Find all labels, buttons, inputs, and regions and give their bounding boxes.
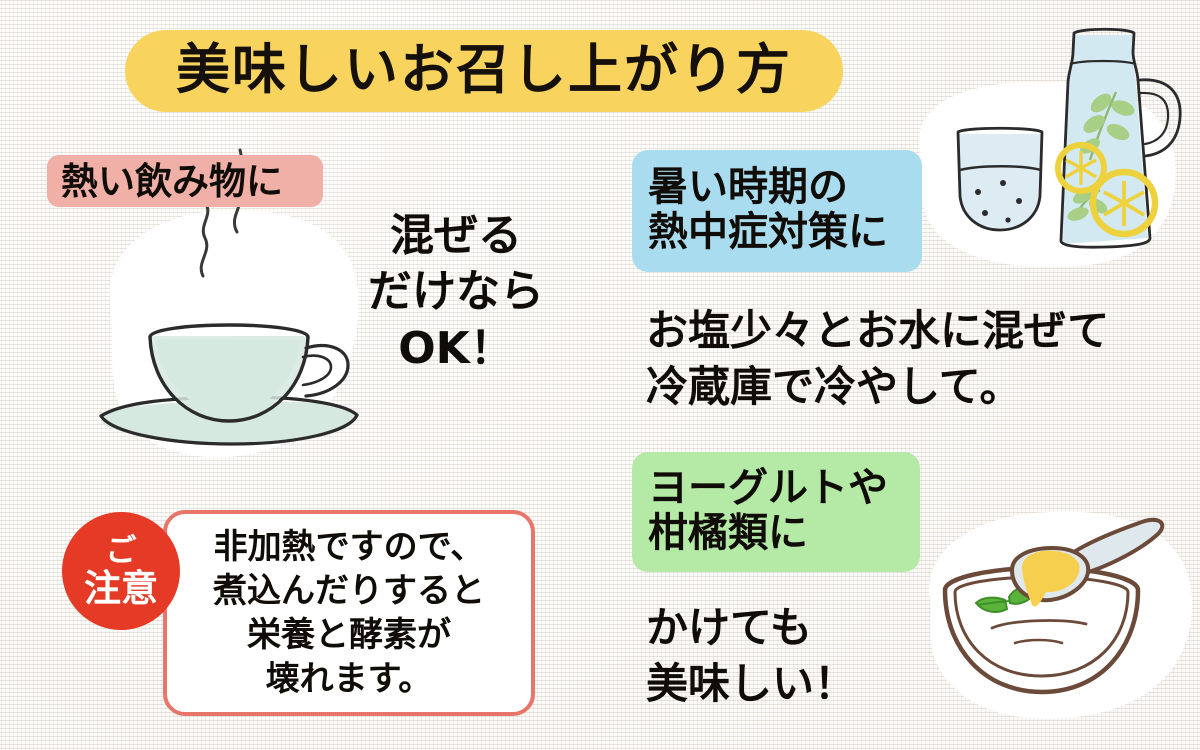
- label-yogurt-line-2: 柑橘類に: [648, 511, 904, 556]
- label-hot-drink: 熱い飲み物に: [47, 155, 323, 207]
- caution-box: 非加熱ですので、 煮込んだりすると 栄養と酵素が 壊れます。: [163, 510, 535, 716]
- caution-badge-line-1: ご: [106, 536, 137, 567]
- text-yogurt-body: かけても 美味しい！: [646, 600, 856, 712]
- text-mix-line-2: だけなら: [348, 264, 564, 320]
- yogurt-bowl-illustration: [929, 512, 1192, 719]
- caution-line-3: 栄養と酵素が: [247, 613, 451, 657]
- title-banner: 美味しいお召し上がり方: [125, 30, 843, 112]
- text-mix-only: 混ぜる だけなら OK！: [348, 208, 564, 377]
- label-hot-drink-text: 熱い飲み物に: [61, 163, 309, 200]
- caution-line-1: 非加熱ですので、: [214, 525, 485, 569]
- label-heatstroke-line-1: 暑い時期の: [648, 165, 906, 210]
- text-yogurt-line-1: かけても: [646, 600, 856, 656]
- text-mix-line-3: OK！: [348, 321, 564, 377]
- text-heatstroke-line-1: お塩少々とお水に混ぜて: [646, 303, 1109, 359]
- carafe-illustration: [919, 29, 1180, 267]
- caution-line-2: 煮込んだりすると: [213, 569, 485, 613]
- label-yogurt-line-1: ヨーグルトや: [648, 466, 904, 511]
- text-mix-line-1: 混ぜる: [348, 208, 564, 264]
- caution-line-4: 壊れます。: [266, 657, 433, 701]
- label-yogurt: ヨーグルトや 柑橘類に: [632, 452, 920, 572]
- text-heatstroke-line-2: 冷蔵庫で冷やして。: [646, 359, 1109, 415]
- page-title: 美味しいお召し上がり方: [176, 43, 792, 97]
- caution-badge: ご 注意: [62, 512, 180, 630]
- caution-badge-line-2: 注意: [84, 570, 158, 607]
- label-heatstroke-line-2: 熱中症対策に: [648, 210, 906, 255]
- label-heatstroke: 暑い時期の 熱中症対策に: [632, 150, 922, 272]
- text-yogurt-line-2: 美味しい！: [646, 656, 856, 712]
- text-heatstroke-body: お塩少々とお水に混ぜて 冷蔵庫で冷やして。: [646, 303, 1109, 415]
